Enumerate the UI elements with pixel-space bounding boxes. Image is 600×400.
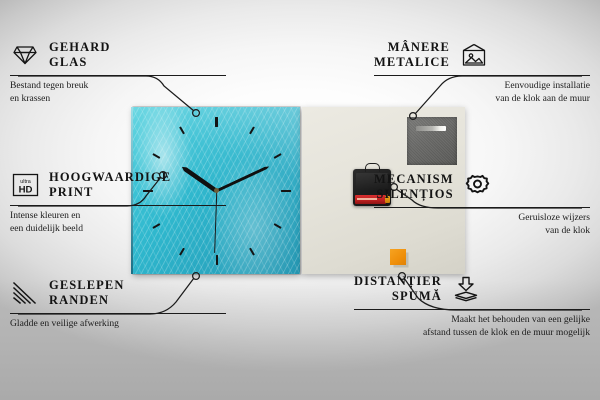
wall-hanger-icon	[459, 40, 489, 70]
feature-gehard-glas: GEHARD GLAS Bestand tegen breuk en krass…	[10, 38, 226, 106]
feature-geslepen-randen: GESLEPEN RANDEN Gladde en veilige afwerk…	[10, 276, 226, 331]
feature-divider	[354, 309, 590, 310]
feature-header: GESLEPEN RANDEN	[10, 276, 226, 310]
feature-divider	[10, 75, 226, 76]
gear-icon	[463, 172, 493, 202]
orange-foam-spacer	[390, 249, 406, 265]
feature-title: MÂNERE METALICE	[374, 40, 450, 71]
feature-title: GEHARD GLAS	[49, 40, 110, 71]
feature-divider	[374, 207, 590, 208]
feature-mecanism-silentios: MECANISM SILENȚIOS Geruisloze wijzers va…	[374, 170, 590, 238]
feature-divider	[10, 313, 226, 314]
ground-edges-icon	[10, 278, 40, 308]
metal-wall-hanger-icon	[407, 117, 457, 165]
feature-divider	[10, 205, 226, 206]
feature-header: GEHARD GLAS	[10, 38, 226, 72]
feature-divider	[374, 75, 590, 76]
feature-header: MECANISM SILENȚIOS	[374, 170, 590, 204]
diamond-icon	[10, 40, 40, 70]
feature-description: Eenvoudige installatie van de klok aan d…	[374, 80, 590, 106]
feature-header: ultra HD HOOGWAARDIGE PRINT	[10, 168, 226, 202]
feature-title: GESLEPEN RANDEN	[49, 278, 125, 309]
infographic-canvas: GEHARD GLAS Bestand tegen breuk en krass…	[0, 0, 600, 400]
hanger-slot	[416, 126, 446, 131]
feature-title: HOOGWAARDIGE PRINT	[49, 170, 171, 201]
feature-header: DISTANȚIER SPUMĂ	[354, 272, 590, 306]
feature-header: MÂNERE METALICE	[374, 38, 590, 72]
feature-description: Intense kleuren en een duidelijk beeld	[10, 210, 226, 236]
ultra-hd-icon: ultra HD	[10, 170, 40, 200]
feature-description: Gladde en veilige afwerking	[10, 318, 226, 331]
feature-description: Maakt het behouden van een gelijke afsta…	[354, 314, 590, 340]
feature-description: Bestand tegen breuk en krassen	[10, 80, 226, 106]
feature-distantier-spuma: DISTANȚIER SPUMĂ Maakt het behouden van …	[354, 272, 590, 340]
foam-spacer-icon	[451, 274, 481, 304]
svg-text:HD: HD	[18, 185, 32, 196]
feature-hoogwaardige-print: ultra HD HOOGWAARDIGE PRINT Intense kleu…	[10, 168, 226, 236]
feature-title: MECANISM SILENȚIOS	[374, 172, 454, 203]
feature-manere-metalice: MÂNERE METALICE Eenvoudige installatie v…	[374, 38, 590, 106]
feature-title: DISTANȚIER SPUMĂ	[354, 274, 442, 305]
feature-description: Geruisloze wijzers van de klok	[374, 212, 590, 238]
